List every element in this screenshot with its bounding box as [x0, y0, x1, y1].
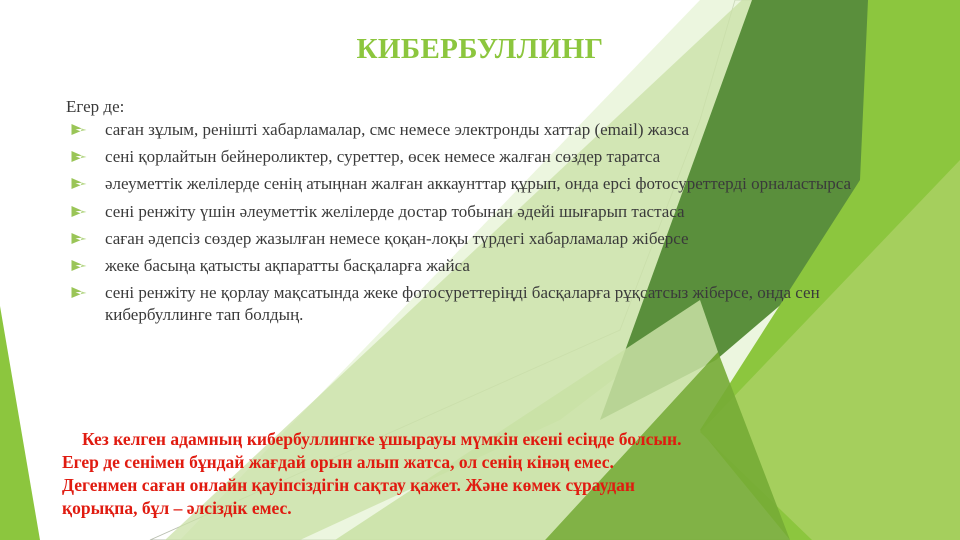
closing-line-4: қорықпа, бұл – әлсіздік емес. — [62, 497, 922, 520]
presentation-slide: КИБЕРБУЛЛИНГ Егер де: саған зұлым, реніш… — [0, 0, 960, 540]
closing-paragraph: Кез келген адамның кибербуллингке ұшырау… — [62, 428, 922, 520]
list-item-label: саған зұлым, ренішті хабарламалар, смс н… — [105, 120, 689, 139]
list-item-label: саған әдепсіз сөздер жазылған немесе қоқ… — [105, 229, 689, 248]
list-item-label: әлеуметтік желілерде сенің атыңнан жалға… — [105, 174, 851, 193]
list-item: саған әдепсіз сөздер жазылған немесе қоқ… — [62, 228, 900, 250]
condition-bullet-list: саған зұлым, ренішті хабарламалар, смс н… — [62, 119, 900, 326]
list-item-label: сені ренжіту үшін әлеуметтік желілерде д… — [105, 202, 685, 221]
green-arrow-bullet-icon — [70, 285, 88, 301]
green-arrow-bullet-icon — [70, 204, 88, 220]
green-arrow-bullet-icon — [70, 231, 88, 247]
list-item-label: сені қорлайтын бейнероликтер, суреттер, … — [105, 147, 660, 166]
green-arrow-bullet-icon — [70, 176, 88, 192]
green-arrow-bullet-icon — [70, 149, 88, 165]
closing-line-3: Дегенмен саған онлайн қауіпсіздігін сақт… — [62, 474, 922, 497]
green-arrow-bullet-icon — [70, 258, 88, 274]
intro-text: Егер де: — [66, 96, 900, 117]
list-item: жеке басыңа қатысты ақпаратты басқаларға… — [62, 255, 900, 277]
list-item: саған зұлым, ренішті хабарламалар, смс н… — [62, 119, 900, 141]
closing-line-1: Кез келген адамның кибербуллингке ұшырау… — [62, 428, 922, 451]
green-arrow-bullet-icon — [70, 122, 88, 138]
closing-line-2: Егер де сенімен бұндай жағдай орын алып … — [62, 451, 922, 474]
slide-body: Егер де: саған зұлым, ренішті хабарламал… — [62, 96, 900, 331]
list-item-label: сені ренжіту не қорлау мақсатында жеке ф… — [105, 283, 820, 324]
page-title: КИБЕРБУЛЛИНГ — [0, 34, 960, 66]
list-item: сені ренжіту үшін әлеуметтік желілерде д… — [62, 201, 900, 223]
list-item: сені ренжіту не қорлау мақсатында жеке ф… — [62, 282, 900, 326]
list-item: әлеуметтік желілерде сенің атыңнан жалға… — [62, 173, 900, 195]
facet-bottom-left-wedge — [0, 306, 40, 540]
list-item-label: жеке басыңа қатысты ақпаратты басқаларға… — [105, 256, 470, 275]
list-item: сені қорлайтын бейнероликтер, суреттер, … — [62, 146, 900, 168]
